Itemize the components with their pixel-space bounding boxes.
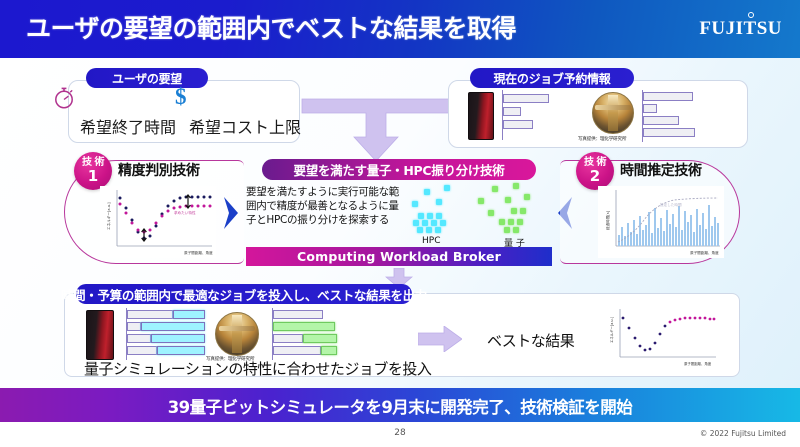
user-request-item-time: 希望終了時間 <box>68 114 188 138</box>
svg-text:エネルギー[a.u.]: エネルギー[a.u.] <box>609 316 614 343</box>
flow-connector-arrow <box>300 93 452 165</box>
bottom-pill: 時間・予算の範囲内で最適なジョブを投入し、ベストな結果を出力 <box>76 284 412 304</box>
tech2-time-chart: 推定した時間 原子間距離、角度 経過時間[s] <box>598 186 724 258</box>
job-reservation-pill: 現在のジョブ予約情報 <box>470 68 634 88</box>
hpc-block-icon <box>418 213 424 219</box>
hpc-block-icon <box>431 220 437 226</box>
hpc-block-icon <box>422 220 428 226</box>
gantt-bar <box>321 346 337 355</box>
quantum-block-icon <box>511 208 517 214</box>
hpc-block-icon <box>444 185 450 191</box>
best-result-label: ベストな結果 <box>487 330 574 351</box>
svg-text:求めたい特性: 求めたい特性 <box>174 210 196 215</box>
user-request-item-cost: 希望コスト上限 <box>185 114 305 138</box>
quantum-computer-image <box>592 92 634 134</box>
gantt-bar <box>503 107 521 116</box>
quantum-block-icon <box>505 197 511 203</box>
quantum-block-icon <box>478 198 484 204</box>
hpc-block-icon <box>427 213 433 219</box>
tech2-badge-number: 2 <box>590 169 600 184</box>
page-title: ユーザの要望の範囲内でベストな結果を取得 <box>26 9 516 45</box>
hpc-server-image <box>86 310 114 360</box>
fujitsu-logo: FUJITSU <box>699 18 782 40</box>
page-number: 28 <box>0 428 800 438</box>
chevron-right-icon <box>222 196 240 230</box>
user-request-time-label: 希望終了時間 <box>68 114 188 138</box>
user-request-cost-label: 希望コスト上限 <box>185 114 305 138</box>
quantum-block-icon <box>508 219 514 225</box>
hpc-label: HPC <box>422 236 440 246</box>
best-result-chart: 原子間距離、角度 エネルギー[a.u.] <box>604 305 720 367</box>
quantum-block-icon <box>513 227 519 233</box>
fujitsu-logo-text: FUJITSU <box>699 18 782 39</box>
tech1-badge: 技 術 1 <box>74 152 112 190</box>
quantum-block-icon <box>492 186 498 192</box>
hpc-block-icon <box>435 227 441 233</box>
tech2-title: 時間推定技術 <box>620 160 702 180</box>
svg-text:経過時間[s]: 経過時間[s] <box>605 210 610 230</box>
gantt-bar <box>273 322 335 331</box>
gantt-bar <box>643 92 693 101</box>
result-arrow-icon <box>418 326 462 352</box>
stopwatch-icon <box>52 86 76 110</box>
gantt-bar <box>303 334 337 343</box>
quantum-block-icon <box>499 219 505 225</box>
copyright-notice: © 2022 Fujitsu Limited <box>700 429 786 438</box>
hpc-server-image <box>468 92 494 140</box>
quantum-block-icon <box>513 183 519 189</box>
gantt-bar <box>173 310 205 319</box>
gantt-bar <box>273 346 321 355</box>
quantum-block-icon <box>524 194 530 200</box>
svg-text:エネルギー[a.u.]: エネルギー[a.u.] <box>106 202 111 230</box>
gantt-bar <box>157 346 205 355</box>
computing-workload-broker-bar: Computing Workload Broker <box>246 247 552 266</box>
gantt-bar <box>127 346 157 355</box>
tech1-title: 精度判別技術 <box>118 160 200 180</box>
slide-root: ユーザの要望の範囲内でベストな結果を取得 FUJITSU ユーザの要望 $ 希望… <box>0 0 800 447</box>
hpc-block-icon <box>417 227 423 233</box>
quantum-block-icon <box>488 210 494 216</box>
svg-text:原子間距離、角度: 原子間距離、角度 <box>690 250 719 255</box>
gantt-bar <box>503 120 533 129</box>
slide-header: ユーザの要望の範囲内でベストな結果を取得 FUJITSU <box>0 0 800 58</box>
gantt-bar <box>643 104 657 113</box>
gantt-bar <box>503 94 549 103</box>
dollar-icon: $ <box>175 84 187 110</box>
footer-banner-text: 39量子ビットシミュレータを9月末に開発完了、技術検証を開始 <box>0 394 800 418</box>
gantt-bar <box>273 310 323 319</box>
photo-credit: 写真提供：理化学研究所 <box>578 136 626 142</box>
gantt-bar <box>127 322 141 331</box>
quantum-computer-image <box>215 312 259 356</box>
hpc-block-icon <box>440 220 446 226</box>
user-request-pill: ユーザの要望 <box>86 68 208 88</box>
tech1-accuracy-chart: 求めたい特性 原子間距離、角度 エネルギー[a.u.] <box>100 186 216 258</box>
svg-text:推定した時間: 推定した時間 <box>660 202 682 207</box>
gantt-bar <box>643 128 695 137</box>
center-pill: 要望を満たす量子・HPC振り分け技術 <box>262 159 536 180</box>
gantt-bar <box>643 116 679 125</box>
hpc-block-icon <box>436 213 442 219</box>
hpc-block-icon <box>413 220 419 226</box>
hpc-block-icon <box>436 199 442 205</box>
center-description: 要望を満たすように実行可能な範囲内で精度が最善となるように量子とHPCの振り分け… <box>246 186 406 228</box>
logo-dot-icon <box>748 12 754 18</box>
gantt-bar <box>273 334 303 343</box>
gantt-bar <box>151 334 205 343</box>
gantt-bar <box>141 322 205 331</box>
tech1-badge-number: 1 <box>88 169 98 184</box>
svg-text:原子間距離、角度: 原子間距離、角度 <box>184 250 213 255</box>
gantt-bar <box>127 334 151 343</box>
hpc-block-icon <box>424 189 430 195</box>
quantum-block-icon <box>517 219 523 225</box>
hpc-block-icon <box>412 201 418 207</box>
bottom-caption: 量子シミュレーションの特性に合わせたジョブを投入 <box>84 358 431 379</box>
tech2-badge: 技 術 2 <box>576 152 614 190</box>
svg-text:原子間距離、角度: 原子間距離、角度 <box>684 361 712 366</box>
quantum-block-icon <box>520 208 526 214</box>
hpc-block-icon <box>426 227 432 233</box>
gantt-bar <box>127 310 173 319</box>
quantum-block-icon <box>504 227 510 233</box>
